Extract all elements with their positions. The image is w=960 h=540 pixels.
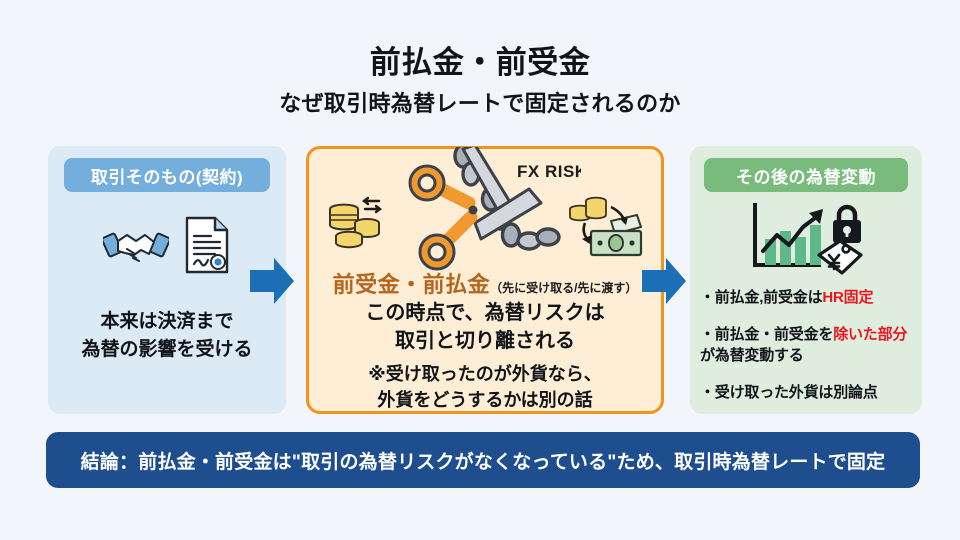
panel-advance-payment: FX RISK: [306, 146, 664, 414]
fx-risk-label: FX RISK: [517, 162, 581, 181]
contract-document-icon: [183, 215, 231, 280]
scissors-cutting-chain-icon: FX RISK: [401, 147, 581, 276]
coins-to-cash-icon: [567, 191, 645, 268]
panel-fx-movement-bullets: ・前払金,前受金はHR固定 ・前払金・前受金を除いた部分が為替変動する ・受け取…: [700, 288, 916, 420]
panel-advance-main-line2: 取引と切り離される: [309, 327, 661, 355]
coin-exchange-icon: [327, 195, 389, 256]
panel-transaction-body-line1: 本来は決済まで: [48, 308, 286, 336]
conclusion-banner: 結論：前払金・前受金は"取引の為替リスクがなくなっている"ため、取引時為替レート…: [46, 432, 920, 488]
panel-advance-heading: 前受金・前払金（先に受け取る/先に渡す）: [309, 267, 661, 299]
panel-advance-heading-main: 前受金・前払金: [333, 272, 491, 297]
panel-transaction-badge: 取引そのもの(契約): [64, 158, 270, 192]
panel-advance-main-line1: この時点で、為替リスクは: [309, 299, 661, 327]
panel-advance-note-line2: 外貨をどうするかは別の話: [309, 387, 661, 413]
panel-advance-hero: FX RISK: [309, 147, 661, 277]
panel-fx-movement-badge: その後の為替変動: [704, 158, 908, 192]
bullet-item-3: ・受け取った外貨は別論点: [700, 383, 916, 403]
handshake-icon: [103, 221, 169, 274]
page-title: 前払金・前受金: [0, 46, 960, 80]
panel-fx-movement: その後の為替変動: [690, 146, 922, 414]
bullet-1-highlight: HR固定: [822, 289, 873, 306]
panel-advance-note-line1: ※受け取ったのが外貨なら、: [309, 361, 661, 387]
page-subtitle: なぜ取引時為替レートで固定されるのか: [0, 86, 960, 118]
panel-transaction-body-line2: 為替の影響を受ける: [48, 336, 286, 364]
panel-transaction-body: 本来は決済まで 為替の影響を受ける: [48, 308, 286, 363]
bullet-2-suffix: が為替変動する: [700, 347, 804, 364]
growth-chart-icon: [747, 199, 865, 284]
bullet-1-prefix: ・前払金,前受金は: [700, 289, 822, 306]
panel-advance-main-text: この時点で、為替リスクは 取引と切り離される: [309, 299, 661, 356]
slide-canvas: 前払金・前受金 なぜ取引時為替レートで固定されるのか 取引そのもの(契約): [0, 0, 960, 540]
bullet-2-prefix: ・前払金・前受金を: [700, 326, 833, 343]
bullet-2-highlight: 除いた部分: [833, 326, 907, 343]
bullet-3-prefix: ・受け取った外貨は別論点: [700, 384, 878, 401]
bullet-item-1: ・前払金,前受金はHR固定: [700, 288, 916, 308]
arrow-right-icon-2: [640, 254, 688, 308]
panel-fx-movement-icons: [690, 196, 922, 286]
panel-advance-note: ※受け取ったのが外貨なら、 外貨をどうするかは別の話: [309, 361, 661, 413]
conclusion-banner-text: 結論：前払金・前受金は"取引の為替リスクがなくなっている"ため、取引時為替レート…: [81, 447, 886, 474]
bullet-item-2: ・前払金・前受金を除いた部分が為替変動する: [700, 325, 916, 366]
arrow-right-icon-1: [248, 254, 296, 308]
panel-advance-heading-sub: （先に受け取る/先に渡す）: [490, 281, 637, 295]
